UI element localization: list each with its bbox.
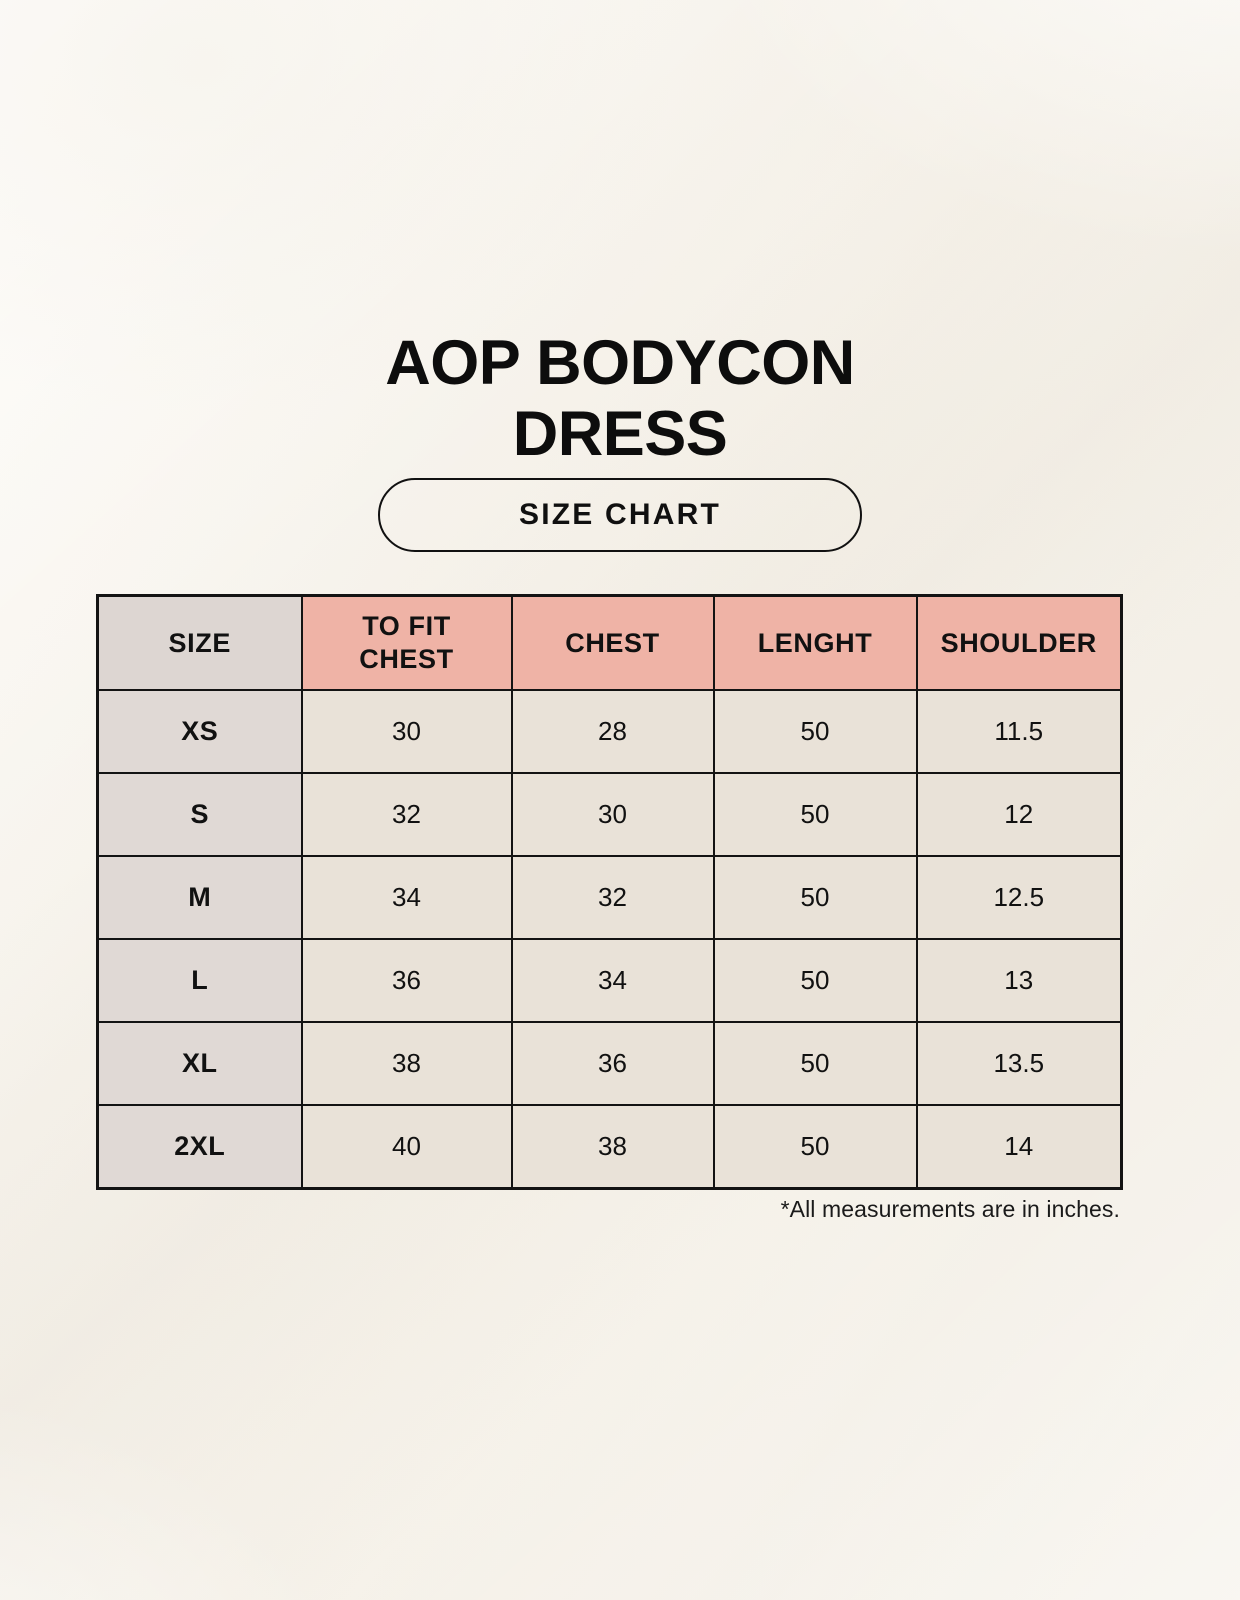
size-chart-page: AOP BODYCON DRESS SIZE CHART SIZE TO FIT… [0,0,1240,1600]
size-table-container: SIZE TO FIT CHEST CHEST LENGHT SHOULDER … [96,594,1120,1190]
cell-shoulder: 13.5 [917,1022,1122,1105]
column-header-size: SIZE [98,596,302,691]
cell-lenght: 50 [714,1022,917,1105]
cell-to-fit-chest: 38 [302,1022,512,1105]
cell-size: L [98,939,302,1022]
cell-to-fit-chest: 34 [302,856,512,939]
table-header-row: SIZE TO FIT CHEST CHEST LENGHT SHOULDER [98,596,1122,691]
size-chart-table: SIZE TO FIT CHEST CHEST LENGHT SHOULDER … [96,594,1123,1190]
column-header-shoulder: SHOULDER [917,596,1122,691]
cell-shoulder: 12.5 [917,856,1122,939]
cell-lenght: 50 [714,773,917,856]
cell-size: XL [98,1022,302,1105]
cell-lenght: 50 [714,939,917,1022]
cell-chest: 36 [512,1022,714,1105]
cell-shoulder: 13 [917,939,1122,1022]
cell-chest: 32 [512,856,714,939]
column-header-lenght: LENGHT [714,596,917,691]
page-title: AOP BODYCON DRESS [160,328,1080,470]
table-row: M 34 32 50 12.5 [98,856,1122,939]
table-body: XS 30 28 50 11.5 S 32 30 50 12 M 34 32 [98,690,1122,1189]
measurements-footnote: *All measurements are in inches. [781,1196,1120,1223]
cell-size: XS [98,690,302,773]
column-header-chest: CHEST [512,596,714,691]
cell-size: S [98,773,302,856]
cell-shoulder: 14 [917,1105,1122,1189]
cell-chest: 28 [512,690,714,773]
table-row: XS 30 28 50 11.5 [98,690,1122,773]
table-header: SIZE TO FIT CHEST CHEST LENGHT SHOULDER [98,596,1122,691]
cell-to-fit-chest: 32 [302,773,512,856]
table-row: S 32 30 50 12 [98,773,1122,856]
cell-chest: 38 [512,1105,714,1189]
cell-to-fit-chest: 36 [302,939,512,1022]
cell-lenght: 50 [714,1105,917,1189]
cell-to-fit-chest: 30 [302,690,512,773]
size-chart-badge: SIZE CHART [378,478,862,552]
cell-size: 2XL [98,1105,302,1189]
cell-size: M [98,856,302,939]
table-row: L 36 34 50 13 [98,939,1122,1022]
table-row: 2XL 40 38 50 14 [98,1105,1122,1189]
cell-lenght: 50 [714,690,917,773]
cell-to-fit-chest: 40 [302,1105,512,1189]
cell-lenght: 50 [714,856,917,939]
table-row: XL 38 36 50 13.5 [98,1022,1122,1105]
size-chart-badge-container: SIZE CHART [0,478,1240,552]
cell-chest: 30 [512,773,714,856]
cell-shoulder: 12 [917,773,1122,856]
cell-shoulder: 11.5 [917,690,1122,773]
column-header-to-fit-chest: TO FIT CHEST [302,596,512,691]
cell-chest: 34 [512,939,714,1022]
